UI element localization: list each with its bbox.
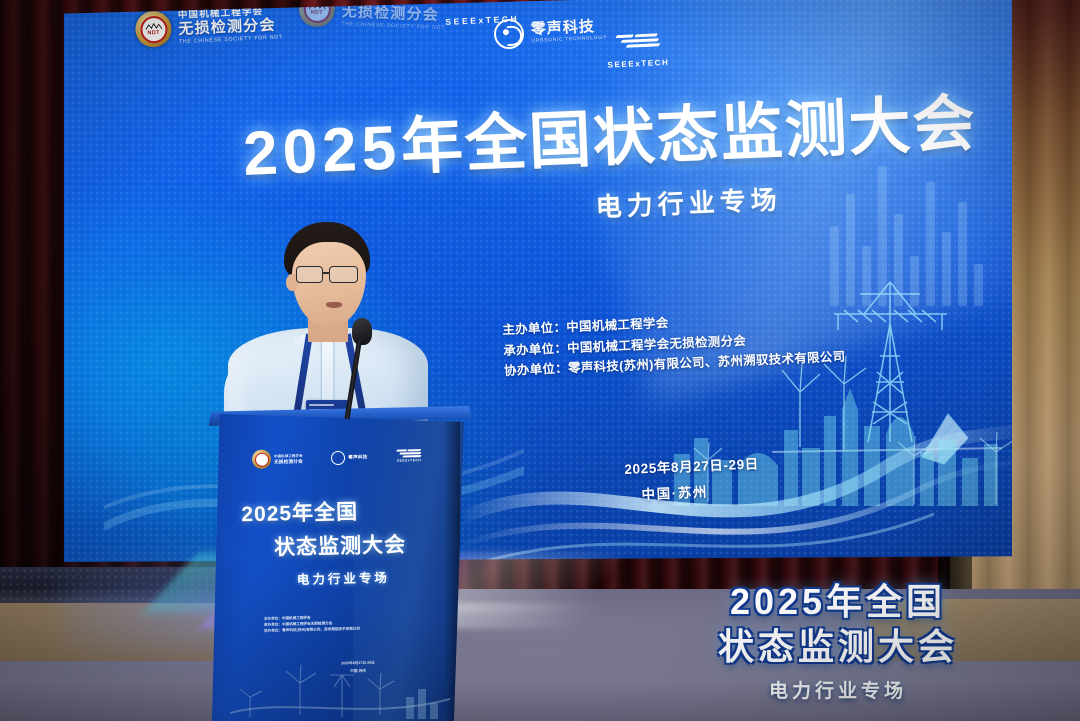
microphone-icon [352, 318, 372, 345]
speaker-figure [222, 222, 432, 437]
podium-orbsonic-label: 零声科技 [348, 454, 367, 460]
overlay-title-line1: 2025年全国 [618, 581, 1058, 622]
podium-title-line1: 2025年全国 [241, 494, 442, 529]
ndt-label: NDT [147, 29, 159, 36]
podium-ndt-line2: 无损检测分会 [274, 458, 303, 464]
podium-ndt-line1: 中国机械工程学会 [274, 454, 303, 459]
conference-stage-photo: NDT 中国机械工程学会 无损检测分会 THE CHINESE SOCIETY … [0, 0, 1080, 721]
overlay-title-block: 2025年全国 状态监测大会 电力行业专场 [618, 581, 1058, 703]
podium-logo-row: 中国机械工程学会 无损检测分会 零声科技 SEEExTECH [252, 446, 422, 469]
speaker-face [292, 242, 366, 326]
ndt-label: NDT [311, 9, 323, 16]
led-backdrop-screen: NDT 中国机械工程学会 无损检测分会 THE CHINESE SOCIETY … [64, 0, 1012, 562]
overlay-title-line3: 电力行业专场 [618, 676, 1058, 703]
seeextech-2-caption: SEEExTECH [607, 58, 669, 70]
podium-ndt-label: 中国机械工程学会 无损检测分会 [274, 453, 303, 465]
speaker-mouth [326, 302, 342, 308]
ndt-circle-waveform-icon [252, 449, 271, 468]
seeex-slanted-bars-icon [614, 32, 661, 51]
logo-seeextech-2: SEEExTECH [606, 32, 670, 70]
orbsonic-sonar-icon [493, 18, 524, 49]
seeex-slanted-bars-icon [396, 449, 422, 459]
podium-energy-graphic [230, 657, 450, 719]
overlay-title-line2: 状态监测大会 [618, 626, 1058, 667]
headline-year: 2025 [242, 113, 403, 189]
logo-orbsonic: 零声科技 ORBSONIC TECHNOLOGY [493, 15, 607, 50]
podium-seeextech-caption: SEEExTECH [397, 458, 421, 463]
orbsonic-name-cn: 零声科技 [530, 18, 606, 36]
podium-logo-orbsonic: 零声科技 [331, 450, 367, 465]
logo-ndt-society: NDT 中国机械工程学会 无损检测分会 THE CHINESE SOCIETY … [135, 5, 283, 48]
podium-organizer-block: 主办单位：中国机械工程学会 承办单位：中国机械工程学会无损检测分会 协办单位：零… [264, 612, 424, 634]
ndt-circle-waveform-icon: NDT [135, 10, 173, 48]
orbsonic-sonar-icon [331, 450, 345, 464]
podium-title-block: 2025年全国 状态监测大会 电力行业专场 [241, 494, 443, 590]
podium-logo-seeextech: SEEExTECH [396, 449, 422, 463]
ndt-society-ghost-line2: 无损检测分会 [341, 4, 445, 23]
podium-lectern: 中国机械工程学会 无损检测分会 零声科技 SEEExTECH 2025年全国 状… [212, 414, 464, 721]
podium-logo-ndt: 中国机械工程学会 无损检测分会 [252, 449, 303, 469]
eyeglasses-icon [296, 266, 364, 284]
podium-title-line2: 状态监测大会 [274, 528, 443, 562]
orbsonic-name-en: ORBSONIC TECHNOLOGY [531, 36, 607, 44]
podium-title-line3: 电力行业专场 [297, 566, 443, 588]
